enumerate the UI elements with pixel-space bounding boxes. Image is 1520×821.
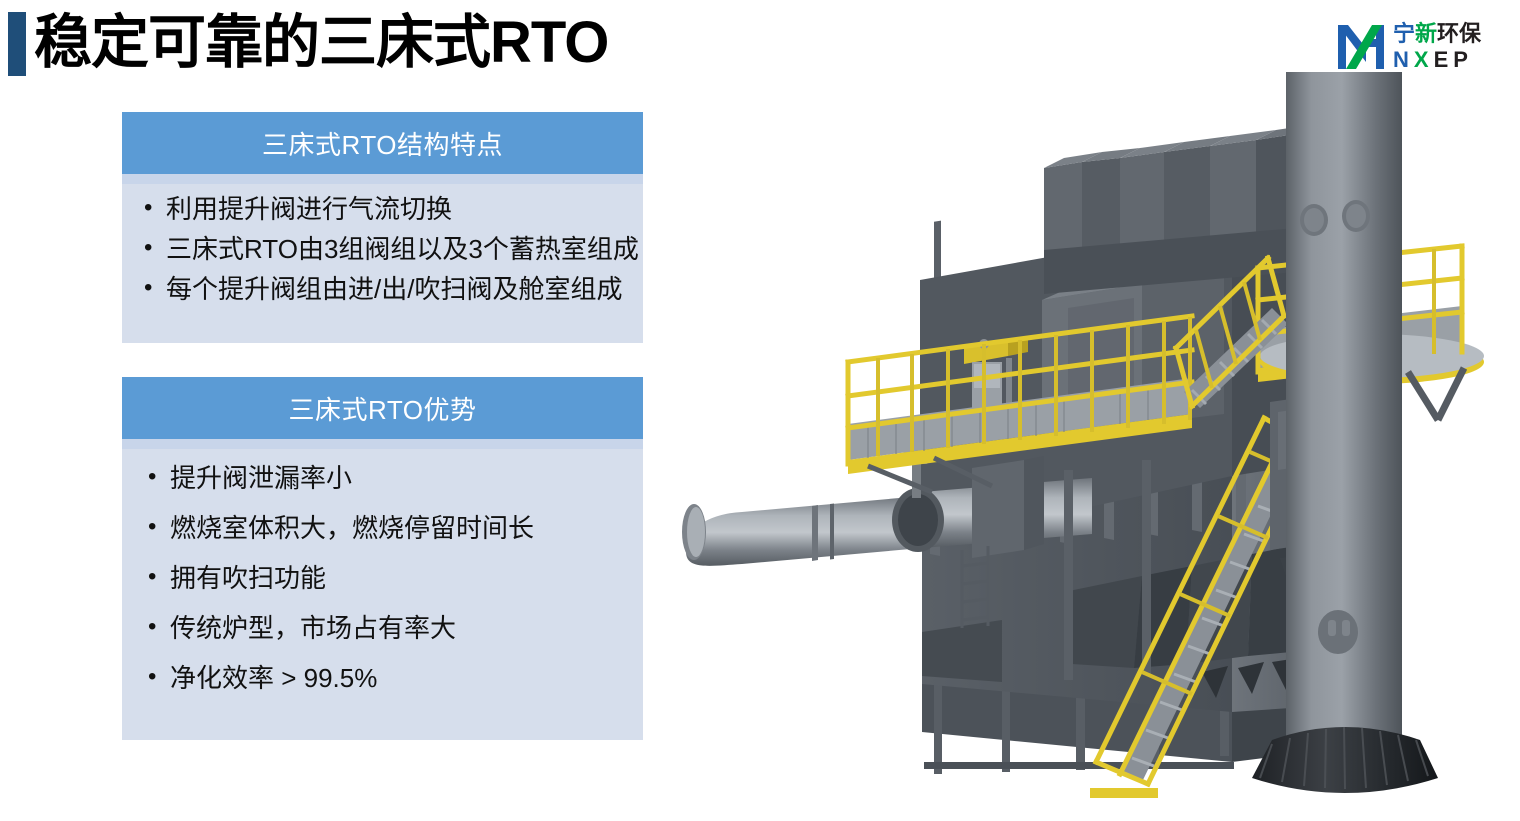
logo-en-n: N	[1393, 47, 1414, 72]
logo-english-name: NXEP	[1393, 47, 1481, 73]
bullet-list-advantage: • 提升阀泄漏率小 • 燃烧室体积大，燃烧停留时间长 • 拥有吹扫功能 • 传统…	[148, 465, 627, 691]
box-separator-advantage	[122, 439, 643, 449]
list-item: • 净化效率 > 99.5%	[148, 665, 627, 691]
list-item-text: 利用提升阀进行气流切换	[166, 196, 452, 222]
slide-root: 稳定可靠的三床式RTO 宁新环保 NXEP 三床式RTO结构特点	[0, 0, 1520, 821]
list-item: • 三床式RTO由3组阀组以及3个蓄热室组成	[144, 236, 627, 262]
bullet-dot-icon: •	[144, 236, 166, 260]
list-item: • 每个提升阀组由进/出/吹扫阀及舱室组成	[144, 276, 627, 302]
logo-wordmark: 宁新环保 NXEP	[1393, 20, 1481, 74]
info-box-structure: 三床式RTO结构特点 • 利用提升阀进行气流切换 • 三床式RTO由3组阀组以及…	[122, 112, 643, 343]
title-accent-bar	[8, 12, 26, 76]
logo-chinese-name: 宁新环保	[1393, 21, 1481, 47]
bullet-dot-icon: •	[144, 276, 166, 300]
bullet-dot-icon: •	[148, 465, 170, 489]
bullet-dot-icon: •	[144, 196, 166, 220]
box-body-advantage: • 提升阀泄漏率小 • 燃烧室体积大，燃烧停留时间长 • 拥有吹扫功能 • 传统…	[122, 449, 643, 697]
logo-cn-char-3: 环保	[1437, 21, 1481, 46]
list-item: • 利用提升阀进行气流切换	[144, 196, 627, 222]
list-item-text: 净化效率 > 99.5%	[170, 665, 377, 691]
box-separator-structure	[122, 174, 643, 184]
company-logo: 宁新环保 NXEP	[1336, 14, 1512, 80]
logo-en-x: X	[1414, 47, 1434, 72]
list-item-text: 燃烧室体积大，燃烧停留时间长	[170, 515, 534, 541]
box-header-structure: 三床式RTO结构特点	[122, 112, 643, 174]
page-title: 稳定可靠的三床式RTO	[34, 4, 608, 82]
box-body-structure: • 利用提升阀进行气流切换 • 三床式RTO由3组阀组以及3个蓄热室组成 • 每…	[122, 184, 643, 308]
list-item: • 拥有吹扫功能	[148, 565, 627, 591]
logo-cn-char-2: 新	[1415, 21, 1437, 46]
rto-equipment-render	[672, 72, 1520, 821]
bullet-dot-icon: •	[148, 565, 170, 589]
nxep-monogram-icon	[1336, 21, 1388, 73]
bullet-dot-icon: •	[148, 615, 170, 639]
list-item-text: 每个提升阀组由进/出/吹扫阀及舱室组成	[166, 276, 622, 302]
list-item-text: 提升阀泄漏率小	[170, 465, 352, 491]
list-item: • 燃烧室体积大，燃烧停留时间长	[148, 515, 627, 541]
list-item: • 提升阀泄漏率小	[148, 465, 627, 491]
bullet-list-structure: • 利用提升阀进行气流切换 • 三床式RTO由3组阀组以及3个蓄热室组成 • 每…	[144, 196, 627, 302]
list-item-text: 传统炉型，市场占有率大	[170, 615, 456, 641]
logo-cn-char-1: 宁	[1393, 21, 1415, 46]
info-box-advantage: 三床式RTO优势 • 提升阀泄漏率小 • 燃烧室体积大，燃烧停留时间长 • 拥有…	[122, 377, 643, 740]
box-header-advantage: 三床式RTO优势	[122, 377, 643, 439]
list-item: • 传统炉型，市场占有率大	[148, 615, 627, 641]
bullet-dot-icon: •	[148, 665, 170, 689]
list-item-text: 三床式RTO由3组阀组以及3个蓄热室组成	[166, 236, 639, 262]
bullet-dot-icon: •	[148, 515, 170, 539]
list-item-text: 拥有吹扫功能	[170, 565, 326, 591]
logo-en-ep: EP	[1434, 47, 1473, 72]
